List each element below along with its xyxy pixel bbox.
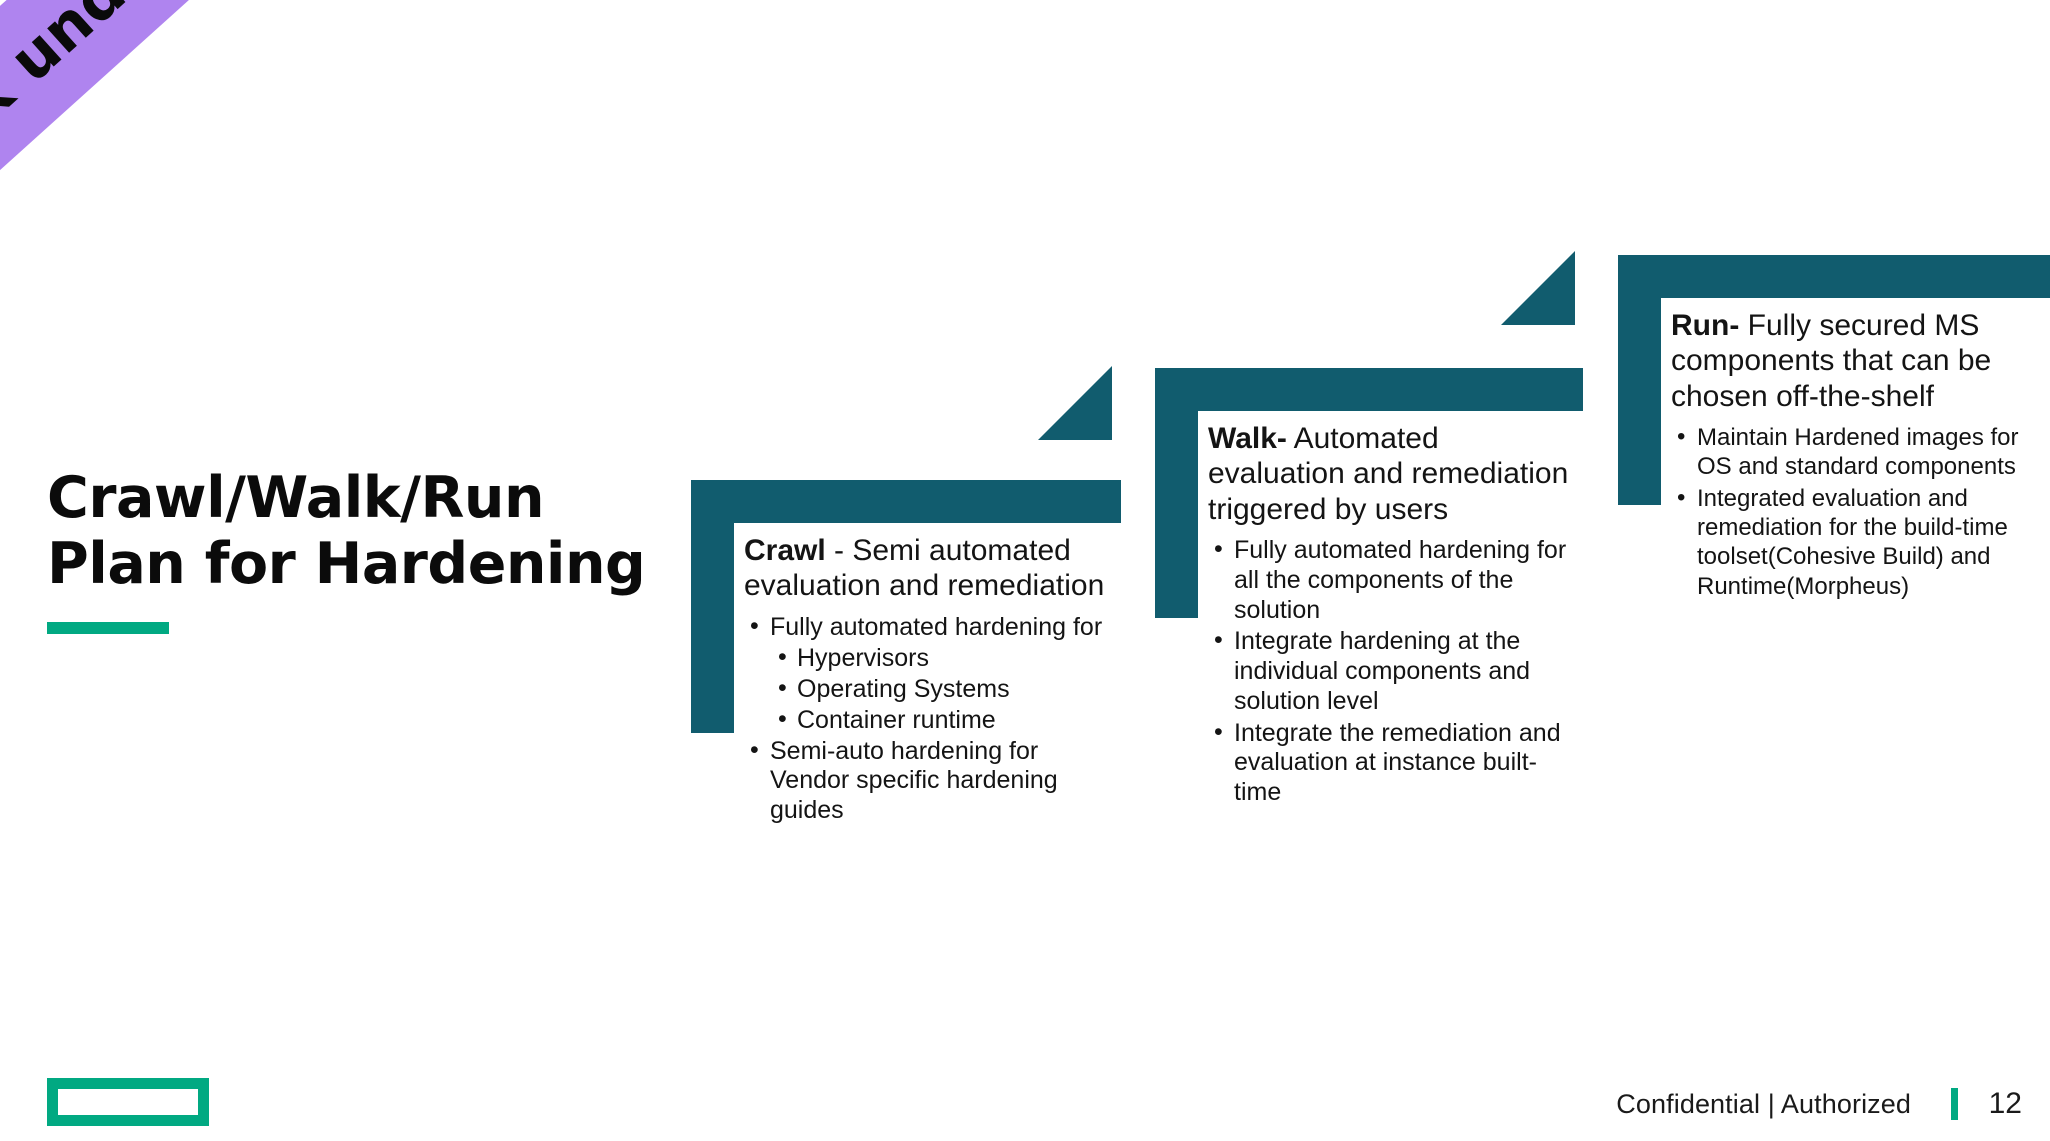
list-item: Fully automated hardening for Hypervisor… [744,613,1115,735]
list-item: Fully automated hardening for all the co… [1208,536,1577,625]
list-item: Integrate hardening at the individual co… [1208,627,1577,716]
card-body: Walk- Automated evaluation and remediati… [1198,411,1583,810]
card-left-bar [1618,255,1661,505]
card-heading: Crawl - Semi automated evaluation and re… [744,533,1115,604]
card-left-bar [1155,368,1198,618]
card-sub-bullet-list: Hypervisors Operating Systems Container … [770,643,1115,735]
list-item: Integrate the remediation and evaluation… [1208,719,1577,808]
page-number: 12 [1986,1087,2022,1121]
card-bullet-list: Maintain Hardened images for OS and stan… [1671,423,2044,601]
title-block: Crawl/Walk/Run Plan for Hardening [47,465,647,634]
work-under-progress-banner: Work under Progress [0,0,442,241]
card-heading: Run- Fully secured MS components that ca… [1671,308,2044,414]
card-body: Crawl - Semi automated evaluation and re… [734,523,1121,828]
card-bullet-list: Fully automated hardening for Hypervisor… [744,613,1115,826]
list-item: Container runtime [770,705,1115,735]
card-top-bar [1618,255,2050,298]
card-heading-term: Crawl [744,534,826,567]
list-item: Integrated evaluation and remediation fo… [1671,484,2044,601]
list-item: Operating Systems [770,674,1115,704]
work-under-progress-label: Work under Progress [0,0,431,228]
list-item-text: Fully automated hardening for [770,613,1102,641]
title-accent-rule [47,622,169,634]
confidentiality-label: Confidential | Authorized [1616,1089,1911,1120]
hpe-logo [47,1078,209,1126]
card-body: Run- Fully secured MS components that ca… [1661,298,2050,603]
card-top-bar [691,480,1121,523]
page-title: Crawl/Walk/Run Plan for Hardening [47,465,647,597]
slide-canvas: Work under Progress Crawl/Walk/Run Plan … [0,0,2050,1141]
step-triangle-icon-run [1501,251,1575,325]
list-item: Semi-auto hardening for Vendor specific … [744,737,1115,826]
list-item: Hypervisors [770,643,1115,673]
step-triangle-icon-walk [1038,366,1112,440]
footer: Confidential | Authorized 12 [1616,1087,2022,1121]
footer-divider [1951,1088,1958,1120]
card-heading-term: Run- [1671,309,1739,342]
card-heading: Walk- Automated evaluation and remediati… [1208,421,1577,527]
card-left-bar [691,480,734,733]
card-heading-term: Walk- [1208,422,1287,455]
list-item: Maintain Hardened images for OS and stan… [1671,423,2044,482]
card-top-bar [1155,368,1583,411]
card-bullet-list: Fully automated hardening for all the co… [1208,536,1577,808]
